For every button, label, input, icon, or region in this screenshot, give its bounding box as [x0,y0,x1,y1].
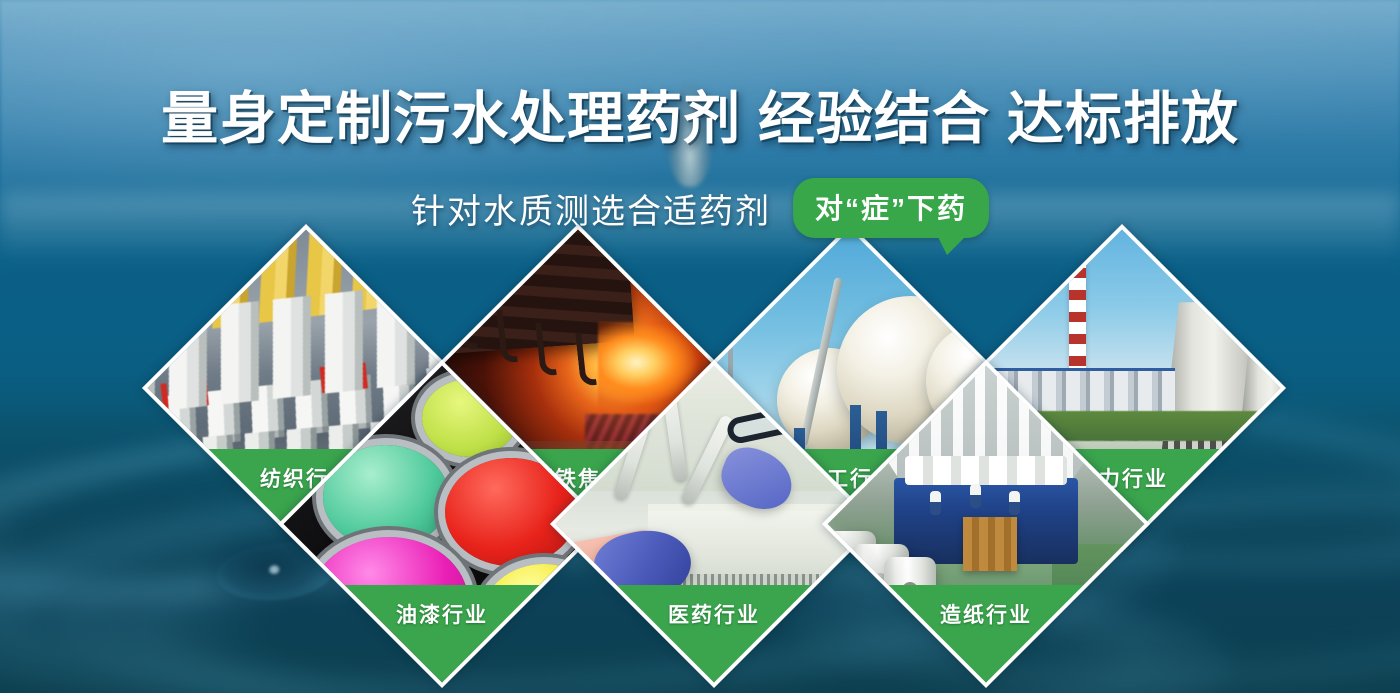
promotional-banner: 量身定制污水处理药剂 经验结合 达标排放 针对水质测选合适药剂 对“症”下药 纺… [0,0,1400,693]
crane-hook-icon [496,308,518,363]
paper-roll [833,556,888,640]
tile-label: 造纸行业 [940,599,1032,629]
crane-hook-icon [536,321,558,376]
cardboard-stack [963,517,1017,571]
worker-figure [930,491,941,515]
tile-label-band: 造纸行业 [822,585,1150,688]
tile-label: 油漆行业 [396,599,488,629]
page-title: 量身定制污水处理药剂 经验结合 达标排放 [161,88,1239,151]
crane-hook-icon [575,331,597,386]
sample-vial [560,562,589,609]
sample-vial [609,622,632,668]
worker-figure [970,484,981,508]
badge-speech-bubble: 对“症”下药 [793,178,989,238]
tile-label-band: 医药行业 [550,585,878,688]
subheadline-area: 针对水质测选合适药剂 对“症”下药 [0,178,1400,238]
crane-hook-icon [456,295,478,350]
worker-figure [1009,491,1020,515]
tile-label: 医药行业 [668,599,760,629]
page-subtitle: 针对水质测选合适药剂 [411,184,771,233]
paint-can-mint [323,445,449,549]
headline-area: 量身定制污水处理药剂 经验结合 达标排放 [0,88,1400,151]
tile-label-band: 油漆行业 [278,585,606,688]
sample-vial [585,595,610,641]
